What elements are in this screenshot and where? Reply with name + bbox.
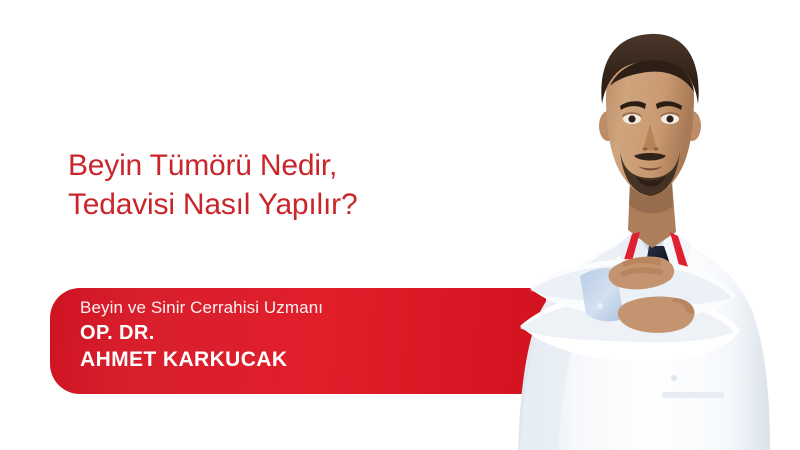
cuff-button: [597, 303, 603, 309]
coat-button: [671, 375, 677, 381]
nostril-right: [654, 147, 659, 150]
headline-line-1: Beyin Tümörü Nedir,: [68, 146, 508, 185]
doctor-specialty: Beyin ve Sinir Cerrahisi Uzmanı: [80, 296, 500, 320]
credentials-banner-text: Beyin ve Sinir Cerrahisi Uzmanı OP. DR. …: [80, 296, 500, 374]
headline-line-2: Tedavisi Nasıl Yapılır?: [68, 185, 508, 224]
doctor-title: OP. DR.: [80, 320, 500, 346]
pupil-right: [666, 115, 673, 122]
nostril-left: [643, 147, 648, 150]
portrait-group: [518, 34, 770, 450]
page-title: Beyin Tümörü Nedir, Tedavisi Nasıl Yapıl…: [68, 146, 508, 224]
doctor-portrait-photo: [440, 0, 800, 450]
promo-banner-image: Beyin Tümörü Nedir, Tedavisi Nasıl Yapıl…: [0, 0, 800, 450]
coat-pocket: [662, 392, 724, 398]
pupil-left: [628, 115, 635, 122]
doctor-name: AHMET KARKUCAK: [80, 346, 500, 374]
